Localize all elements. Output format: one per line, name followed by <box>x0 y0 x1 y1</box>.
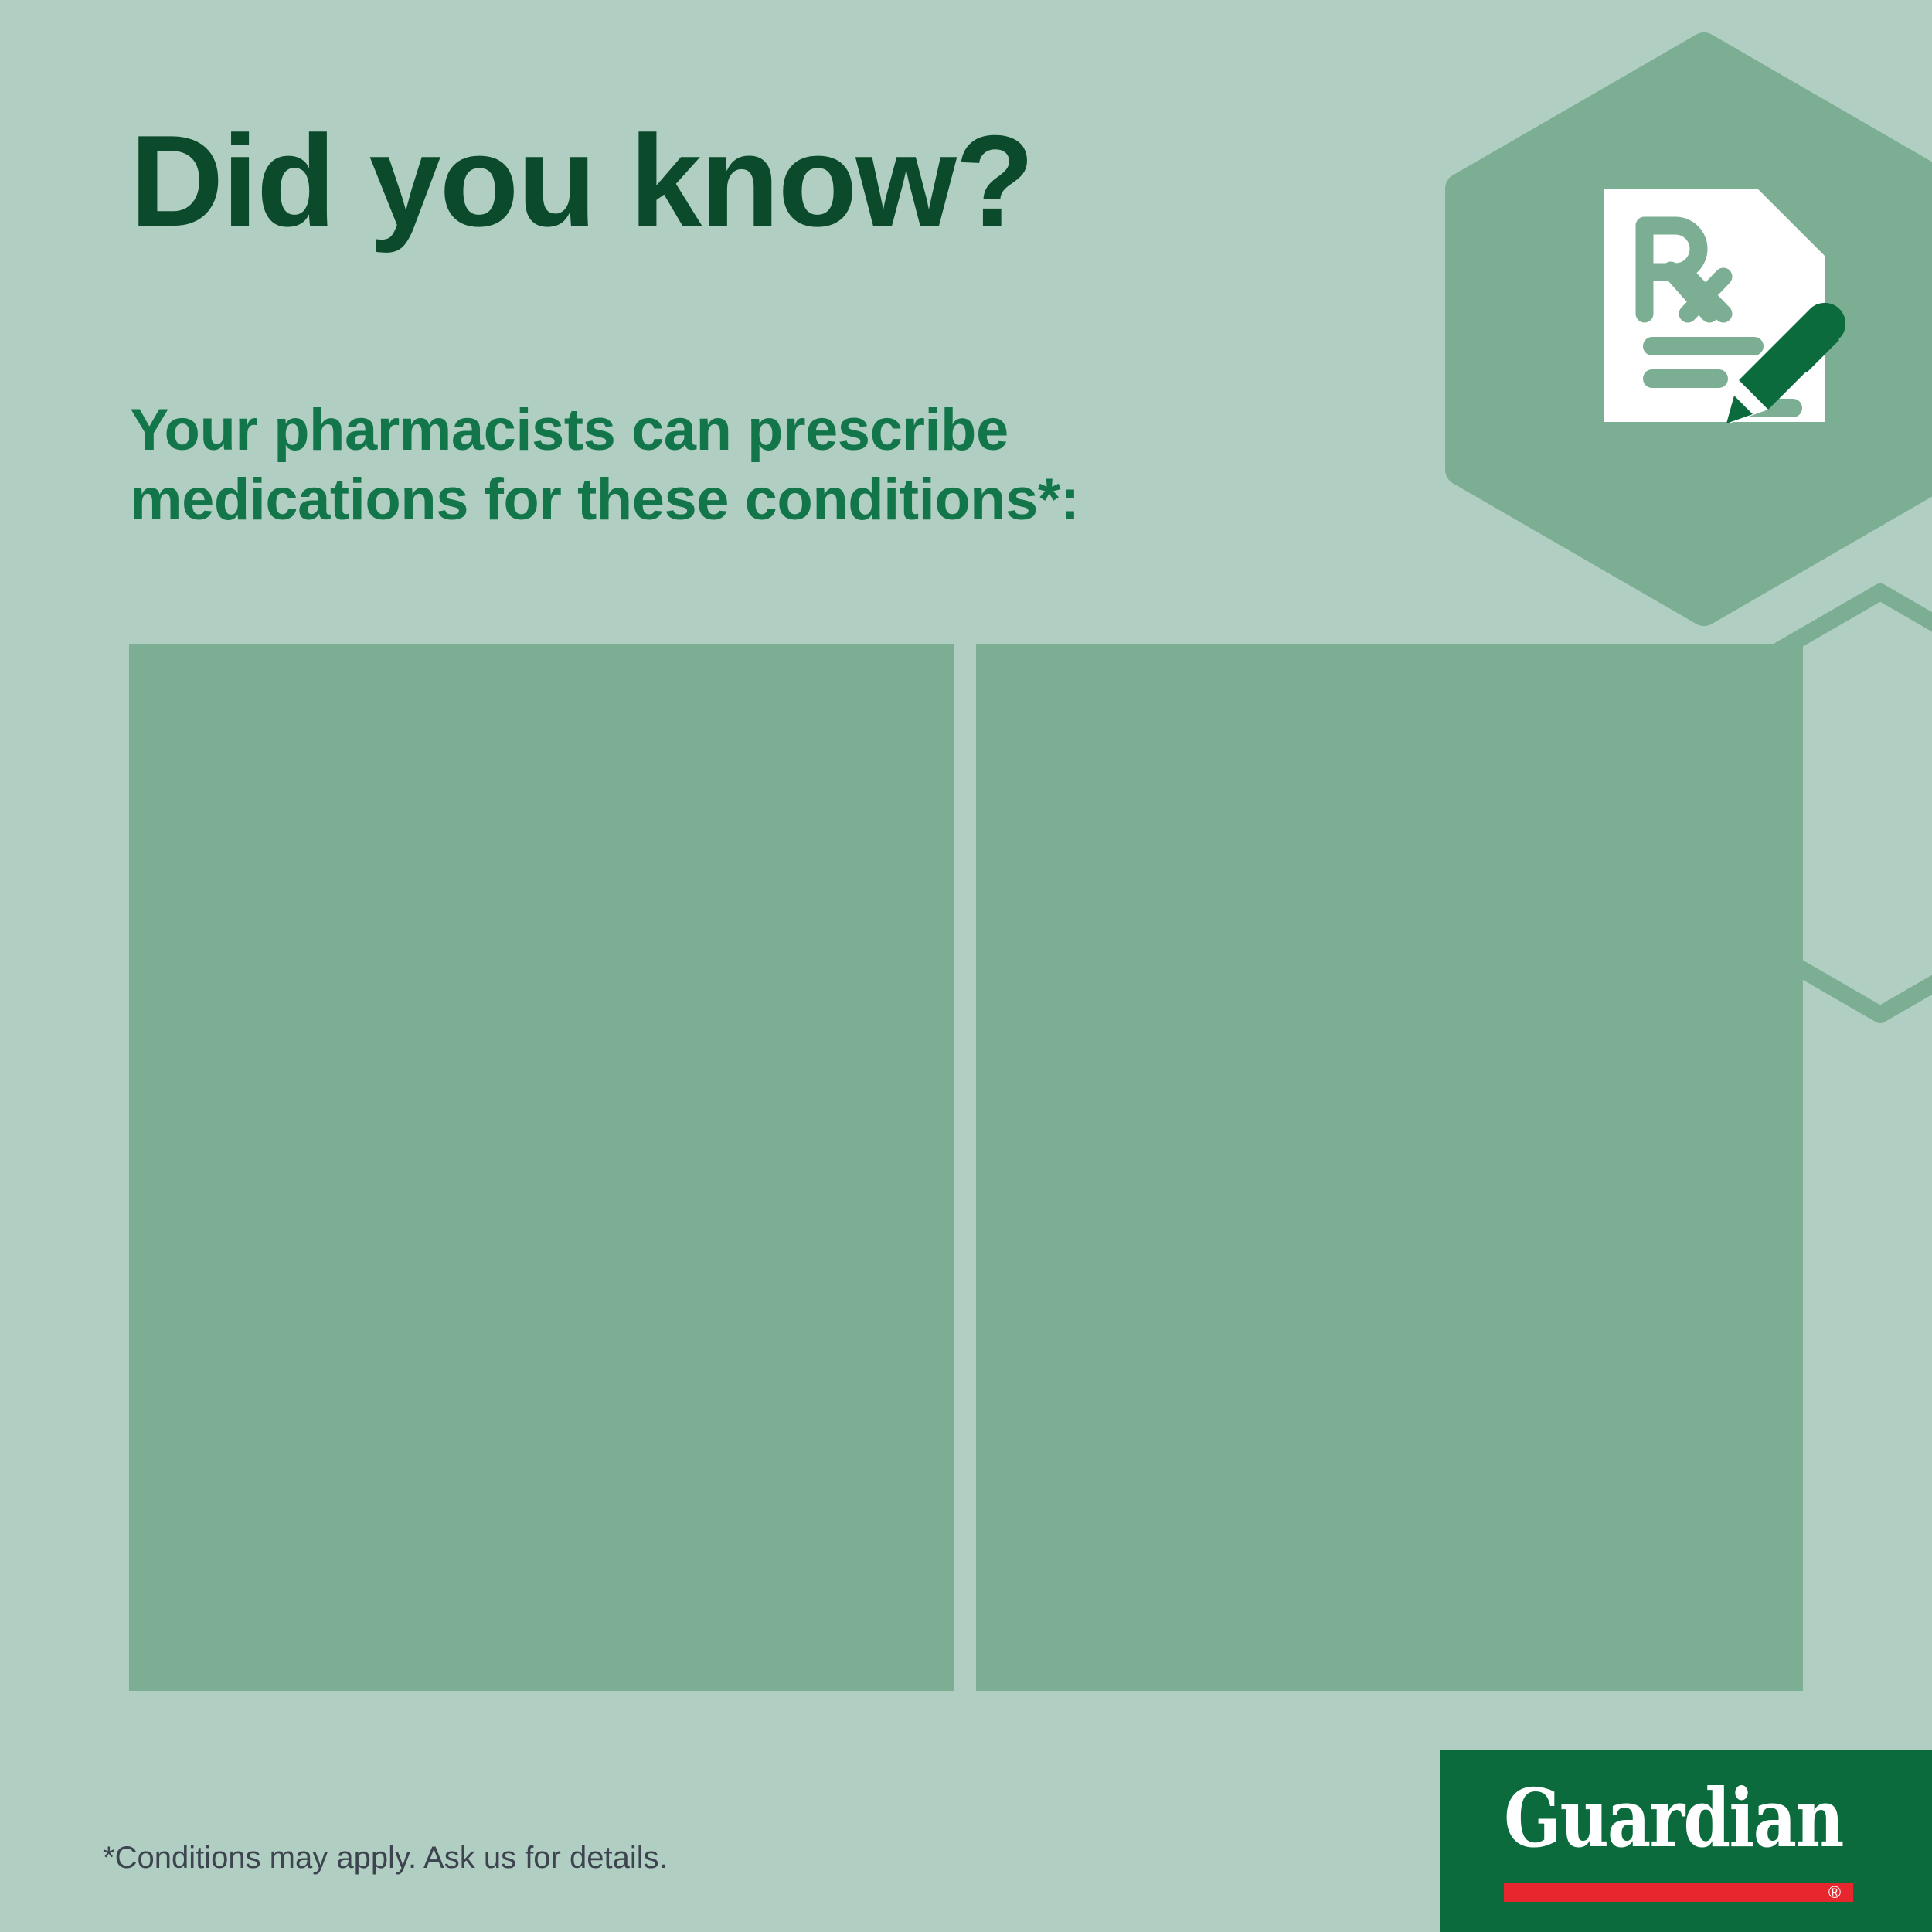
conditions-list-right <box>976 644 1803 1691</box>
rx-document-with-pen-icon <box>1594 178 1849 433</box>
registered-trademark-icon: ® <box>1824 1883 1845 1902</box>
conditions-panel-left <box>129 644 954 1691</box>
conditions-list-left <box>129 644 954 1691</box>
guardian-logo: Guardian ® <box>1440 1750 1932 1932</box>
footnote-disclaimer: *Conditions may apply. Ask us for detail… <box>103 1841 668 1876</box>
guardian-red-rule <box>1504 1883 1853 1902</box>
page-subtitle: Your pharmacists can prescribe medicatio… <box>130 396 1289 534</box>
conditions-panel-right <box>976 644 1803 1691</box>
guardian-wordmark: Guardian <box>1504 1784 1840 1853</box>
page-title: Did you know? <box>130 116 1033 246</box>
poster-canvas: Did you know? Your pharmacists can presc… <box>0 0 1932 1932</box>
